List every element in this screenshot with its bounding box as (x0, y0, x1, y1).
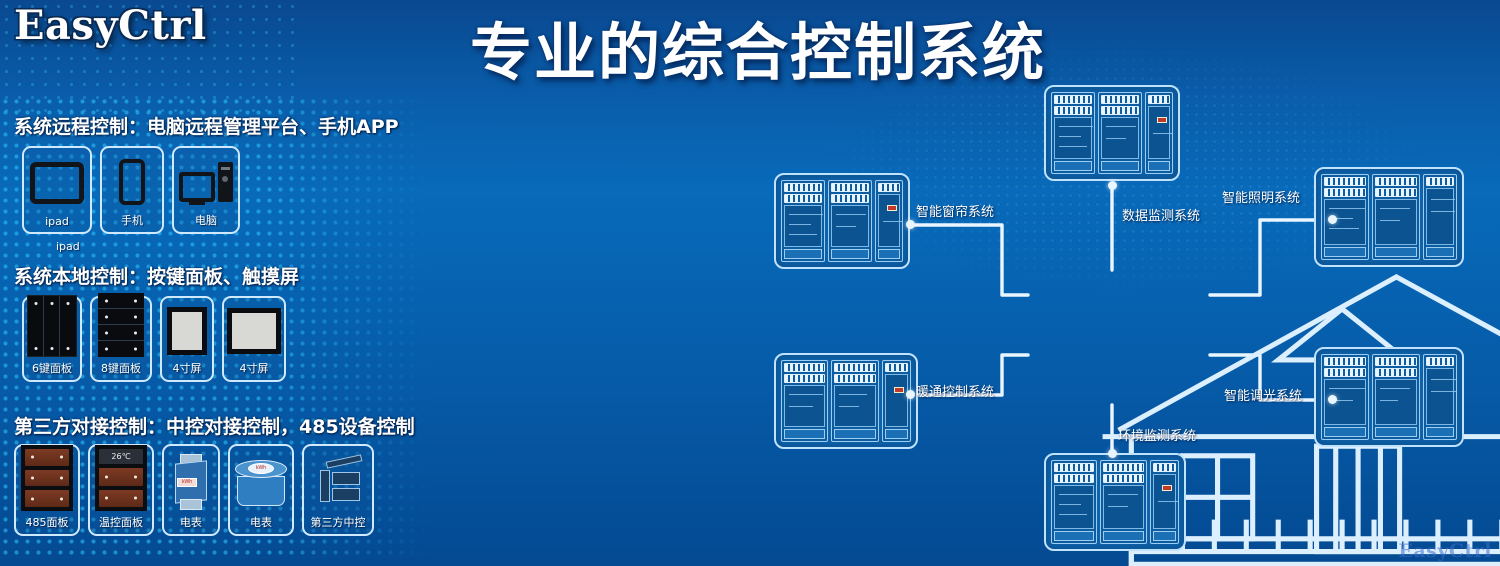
device-card-label: 电表 (250, 514, 272, 530)
module-slot (1100, 460, 1146, 544)
eight-key-panel-icon (97, 293, 145, 357)
device-card-label: 485面板 (26, 514, 69, 530)
touchscreen-icon (167, 304, 207, 357)
curtain-control-module[interactable] (774, 173, 910, 269)
device-card-touchscreen-1[interactable]: 4寸屏 (160, 296, 214, 382)
module-slot (1372, 354, 1420, 440)
poster-canvas: EasyCtrl 专业的综合控制系统 系统远程控制：电脑远程管理平台、手机APP… (0, 0, 1500, 566)
ipad-caption: ipad (56, 240, 80, 253)
module-slot (1098, 92, 1142, 174)
thermostat-panel-icon: 26℃ (95, 445, 147, 511)
device-card-6key-panel[interactable]: 6键面板 (22, 296, 82, 382)
left-feature-panel: 系统远程控制：电脑远程管理平台、手机APP ipad 手机 电脑 ipad 系统… (0, 0, 440, 566)
house-illustration (1018, 245, 1213, 405)
connector-node (1328, 215, 1337, 224)
section-heading-remote-control: 系统远程控制：电脑远程管理平台、手机APP (14, 112, 399, 139)
module-slot (1051, 460, 1097, 544)
rs485-panel-icon (21, 445, 73, 511)
phone-icon (107, 154, 157, 209)
module-slot (1145, 92, 1173, 174)
connector-node (1108, 449, 1117, 458)
node-label-data-monitoring: 数据监测系统 (1122, 205, 1200, 224)
module-slot (1423, 354, 1457, 440)
device-card-third-party-controller[interactable]: 第三方中控 (302, 444, 374, 536)
module-slot (828, 180, 872, 262)
section-heading-local-control: 系统本地控制：按键面板、触摸屏 (14, 262, 299, 289)
section-heading-third-party: 第三方对接控制：中控对接控制，485设备控制 (14, 412, 415, 439)
data-monitoring-module[interactable] (1044, 85, 1180, 181)
six-key-panel-icon (29, 295, 75, 357)
desktop-computer-icon (179, 154, 233, 209)
device-card-label: 4寸屏 (240, 360, 269, 376)
device-card-touchscreen-2[interactable]: 4寸屏 (222, 296, 286, 382)
device-card-label: 6键面板 (32, 360, 72, 376)
device-card-label: 温控面板 (99, 514, 143, 530)
device-card-485-panel[interactable]: 485面板 (14, 444, 80, 536)
device-card-computer[interactable]: 电脑 (172, 146, 240, 234)
device-card-ipad[interactable]: ipad (22, 146, 92, 234)
device-card-8key-panel[interactable]: 8键面板 (90, 296, 152, 382)
device-card-label: 手机 (121, 212, 143, 228)
module-slot (1423, 174, 1457, 260)
module-slot (1150, 460, 1179, 544)
module-slot (1051, 92, 1095, 174)
connector-node (1328, 395, 1337, 404)
device-card-energy-meter-1[interactable]: kWh 电表 (162, 444, 220, 536)
thermostat-display-value: 26℃ (99, 449, 143, 464)
card-row-remote-devices: ipad 手机 电脑 (22, 146, 248, 234)
environment-monitoring-module[interactable] (1044, 453, 1186, 551)
card-row-third-party: 485面板 26℃ 温控面板 kWh 电表 kWh (14, 444, 382, 536)
device-card-thermostat-panel[interactable]: 26℃ 温控面板 (88, 444, 154, 536)
node-label-lighting: 智能照明系统 (1222, 187, 1300, 206)
module-slot (831, 360, 878, 442)
node-label-curtain: 智能窗帘系统 (916, 201, 994, 220)
device-card-energy-meter-2[interactable]: kWh 电表 (228, 444, 294, 536)
device-card-label: 4寸屏 (173, 360, 202, 376)
energy-meter-icon: kWh (169, 452, 213, 511)
third-party-controller-icon (309, 452, 367, 511)
node-label-hvac: 暖通控制系统 (916, 381, 994, 400)
node-label-dimming: 智能调光系统 (1224, 385, 1302, 404)
connector-node (1108, 181, 1117, 190)
hvac-control-module[interactable] (774, 353, 918, 449)
card-row-local-panels: 6键面板 8键面板 4寸屏 4寸屏 (22, 296, 294, 382)
module-slot (781, 360, 828, 442)
module-slot (875, 180, 903, 262)
device-card-label: ipad (45, 215, 69, 228)
device-card-label: 电表 (180, 514, 202, 530)
page-title: 专业的综合控制系统 (470, 22, 1030, 84)
device-card-label: 电脑 (195, 212, 217, 228)
brand-watermark: EasyCtrl (1398, 540, 1492, 562)
module-slot (1372, 174, 1420, 260)
connector-node (906, 220, 915, 229)
module-slot (781, 180, 825, 262)
system-topology-diagram: 智能窗帘系统 数据监测系统 智能照明系统 暖通控制系统 智能调光系统 环境监测系… (740, 55, 1500, 566)
device-card-label: 8键面板 (101, 360, 141, 376)
tablet-icon (29, 154, 85, 212)
device-card-label: 第三方中控 (311, 514, 366, 530)
brand-logo: EasyCtrl (14, 2, 207, 49)
connector-node (906, 390, 915, 399)
module-slot (882, 360, 911, 442)
round-energy-meter-icon: kWh (235, 452, 287, 511)
touchscreen-wide-icon (229, 304, 279, 357)
node-label-environment: 环境监测系统 (1118, 425, 1196, 444)
device-card-phone[interactable]: 手机 (100, 146, 164, 234)
